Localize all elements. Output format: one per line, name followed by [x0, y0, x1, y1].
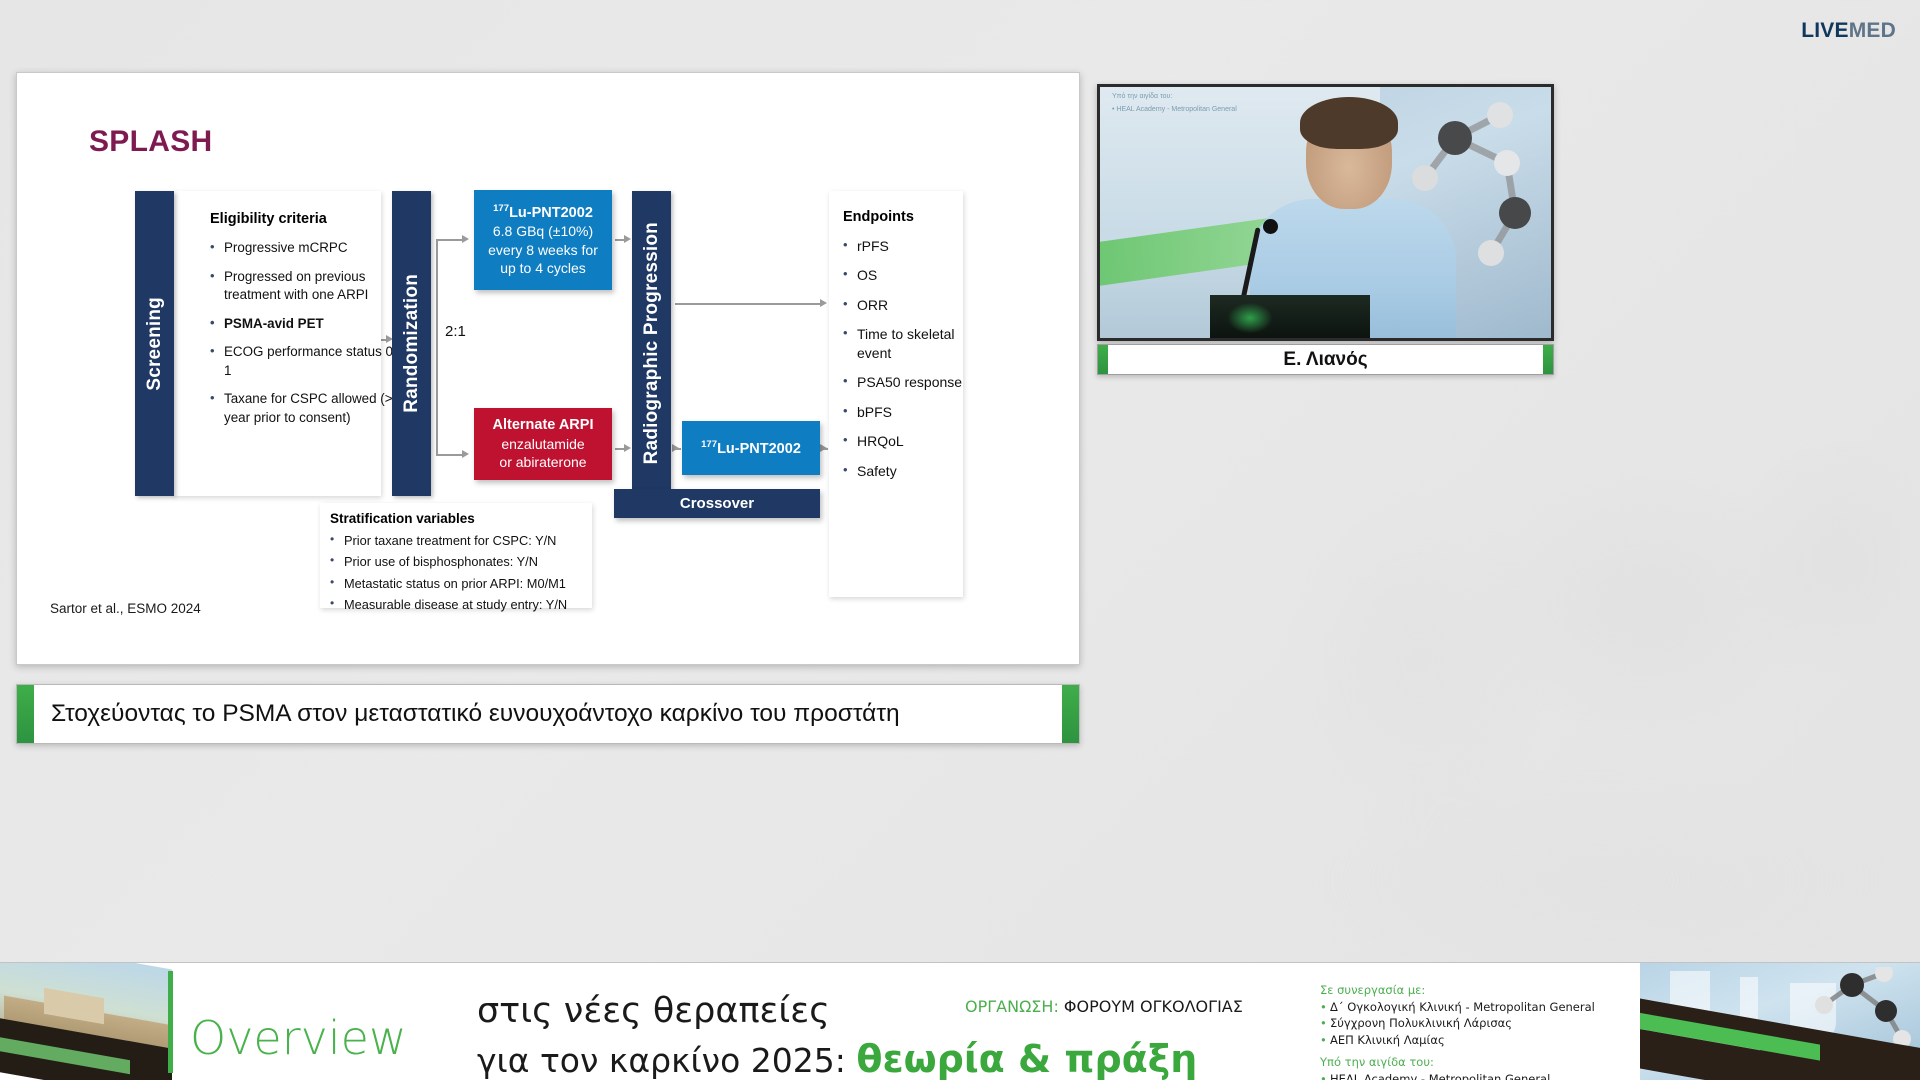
- endpoint-item: bPFS: [843, 403, 963, 421]
- lab-image: [1640, 963, 1920, 1080]
- arrowhead-to-treatment-arm: [462, 235, 469, 243]
- livemed-med-text: MED: [1849, 19, 1896, 42]
- screening-bar: Screening: [135, 191, 174, 496]
- speaker-name-text: Ε. Λιανός: [1283, 349, 1367, 371]
- eligibility-item: PSMA-avid PET: [210, 315, 410, 334]
- treatment-arm-schedule-1: every 8 weeks for: [488, 241, 598, 259]
- crossover-name-text: Lu-PNT2002: [717, 441, 801, 457]
- speaker-bar-left-accent: [1098, 345, 1108, 374]
- treatment-arm-isotope: 177: [493, 203, 509, 214]
- control-arm-drug-2: or abiraterone: [499, 453, 586, 471]
- footer-tagline-line1: στις νέες θεραπείες: [477, 991, 830, 1031]
- crossover-drug-box: 177Lu-PNT2002: [682, 421, 820, 475]
- crossover-bar: Crossover: [614, 489, 820, 518]
- livemed-live-text: LIVE: [1801, 19, 1848, 42]
- speaker-name-bar: Ε. Λιανός: [1097, 344, 1554, 375]
- radiographic-progression-bar: Radiographic Progression: [632, 191, 671, 496]
- livemed-logo: LIVEMED: [1801, 19, 1896, 43]
- endpoint-item: HRQoL: [843, 432, 963, 450]
- stratification-item: Measurable disease at study entry: Y/N: [330, 597, 592, 613]
- connector-progression-to-endpoints: [675, 303, 823, 305]
- control-arm-drug-1: enzalutamide: [501, 435, 584, 453]
- connector-randomization-split-vertical: [436, 240, 438, 455]
- session-title-banner: Στοχεύοντας το PSMA στον μεταστατικό ευν…: [16, 684, 1080, 744]
- endpoint-item: rPFS: [843, 237, 963, 255]
- presentation-slide: SPLASH Eligibility criteria Progressive …: [16, 72, 1080, 665]
- stratification-heading: Stratification variables: [330, 511, 475, 526]
- speaker-video-panel[interactable]: Υπό την αιγίδα του: • HEAL Academy - Met…: [1097, 84, 1554, 341]
- control-arm-name: Alternate ARPI: [493, 416, 594, 435]
- session-title-text: Στοχεύοντας το PSMA στον μεταστατικό ευν…: [51, 700, 900, 728]
- microphone-head: [1263, 219, 1278, 234]
- partner-item: ΑΕΠ Κλινική Λαμίας: [1320, 1032, 1595, 1048]
- eligibility-item: ECOG performance status 0 to 1: [210, 343, 410, 380]
- footer-green-divider: [168, 971, 173, 1073]
- eligibility-item: Taxane for CSPC allowed (>1 year prior t…: [210, 390, 410, 427]
- trial-design-diagram: Eligibility criteria Progressive mCRPC P…: [17, 73, 1080, 665]
- endpoint-item: PSA50 response: [843, 373, 963, 391]
- slide-citation: Sartor et al., ESMO 2024: [50, 601, 201, 616]
- eligibility-panel: Eligibility criteria Progressive mCRPC P…: [174, 191, 381, 496]
- organizer-line: ΟΡΓΑΝΩΣΗ: ΦΟΡΟΥΜ ΟΓΚΟΛΟΓΙΑΣ: [965, 997, 1243, 1016]
- treatment-arm-box: 177Lu-PNT2002 6.8 GBq (±10%) every 8 wee…: [474, 190, 612, 290]
- randomization-bar: Randomization: [392, 191, 431, 496]
- arrowhead-to-control-arm: [462, 450, 469, 458]
- endpoint-item: ORR: [843, 296, 963, 314]
- endpoint-item: OS: [843, 266, 963, 284]
- video-bg-line-1: Υπό την αιγίδα του:: [1112, 91, 1237, 104]
- organizer-label: ΟΡΓΑΝΩΣΗ:: [965, 997, 1059, 1016]
- arrowhead-control-to-progression: [624, 444, 631, 452]
- video-background-slide-text: Υπό την αιγίδα του: • HEAL Academy - Met…: [1112, 91, 1237, 116]
- endpoint-item: Time to skeletal event: [843, 325, 963, 362]
- partners-block: Σε συνεργασία με: Δ´ Ογκολογική Κλινική …: [1320, 983, 1595, 1080]
- endpoints-panel: Endpoints rPFS OS ORR Time to skeletal e…: [829, 191, 963, 597]
- arrowhead-to-crossover-drug: [672, 444, 679, 452]
- eligibility-heading: Eligibility criteria: [210, 211, 327, 227]
- auspices-item: HEAL Academy - Metropolitan General: [1320, 1071, 1595, 1080]
- endpoint-item: Safety: [843, 462, 963, 480]
- treatment-arm-drug-name: 177Lu-PNT2002: [493, 203, 593, 222]
- footer-tagline-line2-plain: για τον καρκίνο 2025:: [477, 1041, 856, 1080]
- video-bg-line-2: • HEAL Academy - Metropolitan General: [1112, 104, 1237, 117]
- overview-label: Overview: [190, 1011, 407, 1065]
- auspices-heading: Υπό την αιγίδα του:: [1320, 1055, 1595, 1069]
- acropolis-image: [0, 963, 172, 1080]
- footer-tagline-line2: για τον καρκίνο 2025: θεωρία & πράξη: [477, 1037, 1197, 1080]
- crossover-drug-name: 177Lu-PNT2002: [701, 439, 801, 457]
- connector-to-treatment-arm: [436, 239, 464, 241]
- control-arm-box: Alternate ARPI enzalutamide or abiratero…: [474, 408, 612, 480]
- stratification-item: Prior use of bisphosphonates: Y/N: [330, 554, 592, 570]
- treatment-arm-name-text: Lu-PNT2002: [509, 205, 593, 221]
- footer-tagline-accent: θεωρία & πράξη: [856, 1037, 1197, 1080]
- treatment-arm-dose: 6.8 GBq (±10%): [493, 222, 593, 240]
- stratification-item: Metastatic status on prior ARPI: M0/M1: [330, 576, 592, 592]
- eligibility-item: Progressed on previous treatment with on…: [210, 268, 410, 305]
- partner-item: Δ´ Ογκολογική Κλινική - Metropolitan Gen…: [1320, 999, 1595, 1015]
- treatment-arm-schedule-2: up to 4 cycles: [500, 259, 586, 277]
- banner-left-accent: [17, 685, 34, 743]
- organizer-value: ΦΟΡΟΥΜ ΟΓΚΟΛΟΓΙΑΣ: [1064, 997, 1243, 1016]
- stratification-panel: Stratification variables Prior taxane tr…: [320, 503, 592, 608]
- eligibility-list: Progressive mCRPC Progressed on previous…: [210, 239, 410, 437]
- crossover-isotope: 177: [701, 439, 717, 450]
- conference-footer: Overview στις νέες θεραπείες για τον καρ…: [0, 962, 1920, 1080]
- laptop-screen-glow: [1228, 303, 1272, 333]
- speaker-video-frame[interactable]: Υπό την αιγίδα του: • HEAL Academy - Met…: [1100, 87, 1551, 338]
- partner-item: Σύγχρονη Πολυκλινική Λάρισας: [1320, 1015, 1595, 1031]
- arrowhead-treatment-to-progression: [624, 235, 631, 243]
- banner-right-accent: [1062, 685, 1079, 743]
- arrowhead-to-endpoints-bottom: [820, 444, 827, 452]
- speaker-bar-right-accent: [1543, 345, 1553, 374]
- speaker-hair: [1300, 97, 1398, 149]
- radiographic-progression-bar-label: Radiographic Progression: [641, 222, 663, 464]
- eligibility-item: Progressive mCRPC: [210, 239, 410, 258]
- randomization-bar-label: Randomization: [401, 274, 423, 413]
- endpoints-heading: Endpoints: [843, 209, 914, 225]
- partners-heading: Σε συνεργασία με:: [1320, 983, 1595, 997]
- randomization-ratio-label: 2:1: [441, 322, 470, 341]
- stratification-item: Prior taxane treatment for CSPC: Y/N: [330, 533, 592, 549]
- screening-bar-label: Screening: [144, 297, 166, 391]
- connector-to-control-arm: [436, 454, 464, 456]
- arrowhead-to-endpoints-top: [820, 299, 827, 307]
- endpoints-list: rPFS OS ORR Time to skeletal event PSA50…: [843, 237, 963, 491]
- crossover-label: Crossover: [680, 495, 754, 512]
- stratification-list: Prior taxane treatment for CSPC: Y/N Pri…: [330, 533, 592, 619]
